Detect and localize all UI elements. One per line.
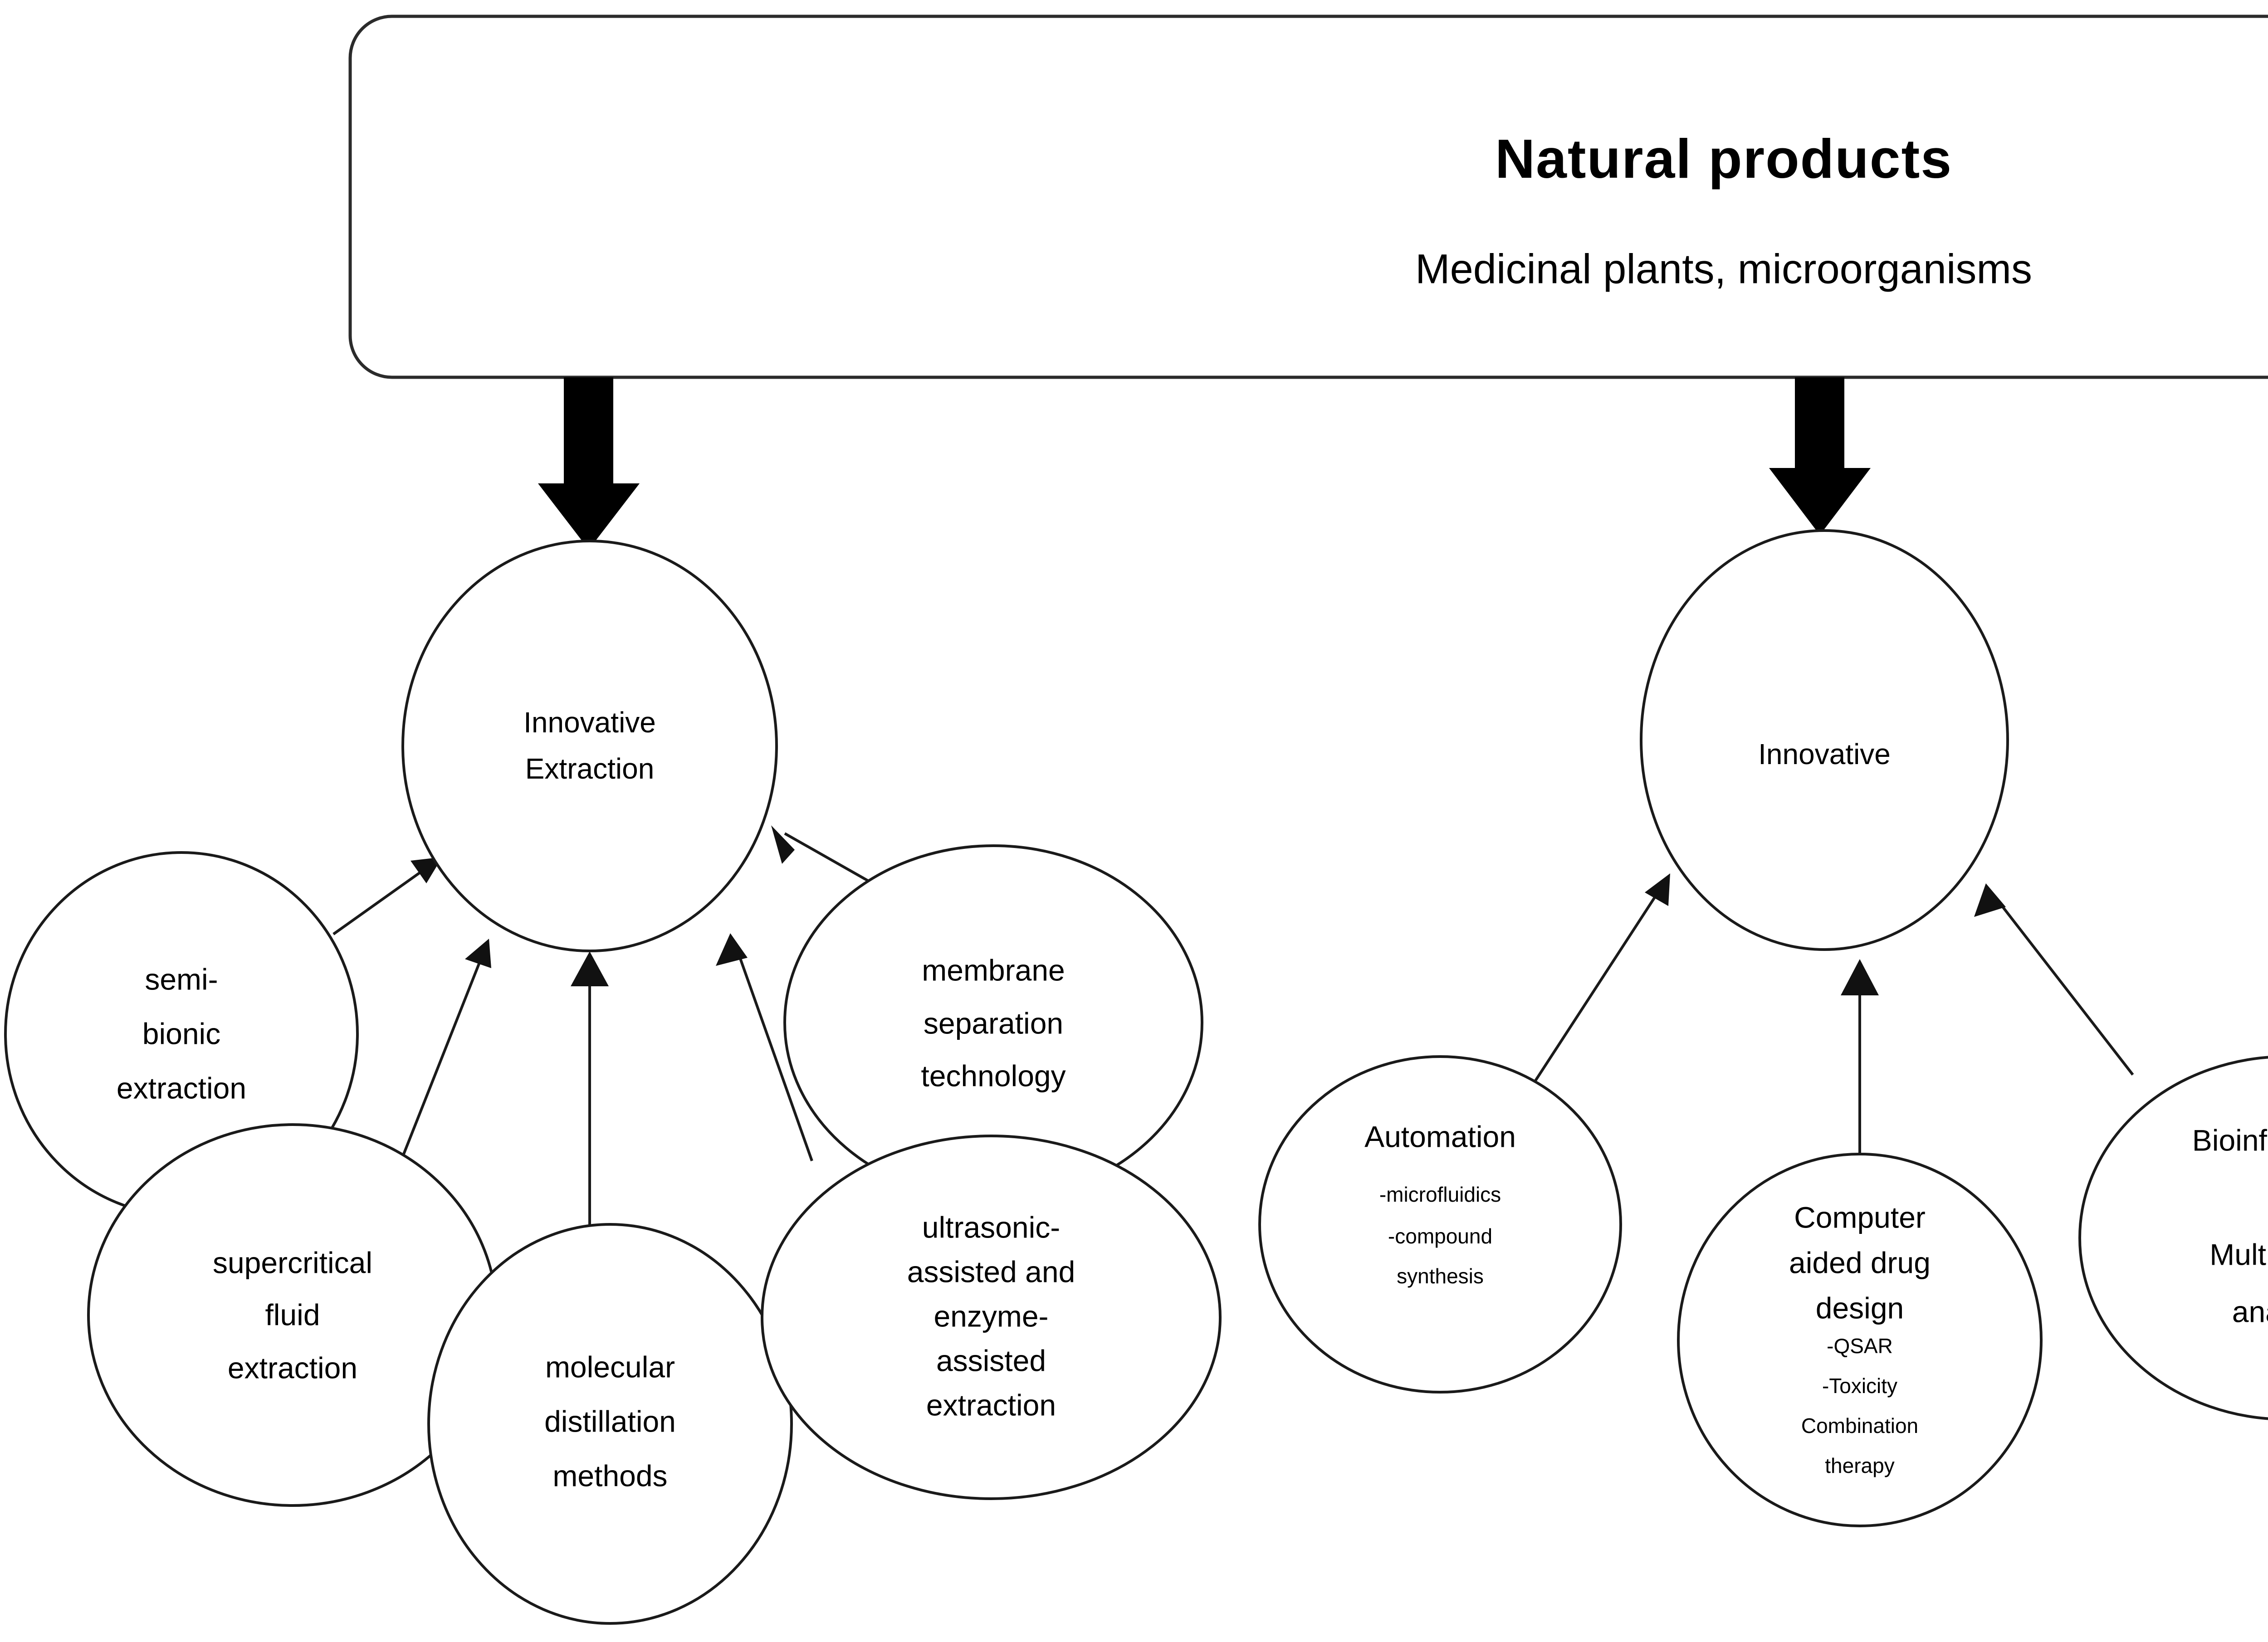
node-label-sub2: -compound (1388, 1224, 1492, 1248)
node-innovative[interactable]: Innovative (1641, 531, 2008, 950)
node-label-line1: molecular (545, 1350, 675, 1384)
node-label-line1: membrane (922, 953, 1065, 987)
node-label-line2: separation (924, 1006, 1063, 1040)
link-membrane-to-extraction (771, 825, 882, 889)
node-label-line1: Computer (1794, 1200, 1926, 1234)
node-label-line2: Extraction (525, 752, 655, 785)
page-subtitle: Medicinal plants, microorganisms (1415, 246, 2032, 292)
node-label-line3: Multivariate (2209, 1238, 2268, 1271)
node-label-sub1: -microfluidics (1379, 1183, 1501, 1206)
node-label-line1: Bioinformatics (2192, 1123, 2268, 1157)
node-label-line2: assisted and (907, 1255, 1075, 1288)
link-automation-to-innovative (1519, 873, 1670, 1106)
node-label-line2: distillation (544, 1404, 676, 1438)
node-label-line1: Innovative (1758, 738, 1891, 770)
node-label-sub4: therapy (1825, 1454, 1894, 1477)
diagram-canvas: Natural products Medicinal plants, micro… (0, 0, 2268, 1642)
page-title: Natural products (1495, 128, 1952, 190)
node-label-sub1: -QSAR (1827, 1334, 1893, 1358)
link-semi-bionic-to-extraction (333, 857, 442, 934)
node-innovative-extraction[interactable]: Innovative Extraction (403, 541, 777, 951)
node-molecular-distillation-methods[interactable]: molecular distillation methods (429, 1224, 792, 1623)
node-bioinformatics-multivariate-analysis[interactable]: Bioinformatics / Multivariate analysis (2080, 1057, 2268, 1419)
node-label-line4: assisted (936, 1344, 1046, 1377)
thick-arrow-center (1769, 377, 1871, 535)
header-box (350, 16, 2268, 377)
down-arrow-icon (1769, 377, 1871, 535)
node-label-line3: extraction (117, 1071, 246, 1105)
node-ellipse[interactable] (403, 541, 777, 951)
node-label-line3: enzyme- (934, 1299, 1048, 1333)
node-label-line1: ultrasonic- (922, 1210, 1060, 1244)
node-label-line2: bionic (142, 1017, 220, 1050)
node-label-line2: fluid (265, 1298, 320, 1331)
down-arrow-icon (538, 377, 640, 550)
link-supercritical-to-extraction (404, 939, 491, 1154)
node-label-sub3: synthesis (1397, 1264, 1484, 1288)
node-label-line4: analysis (2232, 1295, 2268, 1328)
node-label-line3: extraction (228, 1351, 357, 1384)
thick-arrow-left (538, 377, 640, 550)
node-label-head: Automation (1364, 1120, 1516, 1153)
link-cadd-to-innovative (1841, 959, 1879, 1161)
node-label-line3: methods (552, 1459, 667, 1492)
node-label-line1: semi- (145, 962, 218, 996)
node-label-line3: design (1816, 1291, 1904, 1325)
flowchart-svg: Natural products Medicinal plants, micro… (0, 0, 2268, 1642)
node-automation[interactable]: Automation -microfluidics -compound synt… (1260, 1057, 1621, 1392)
node-label-line1: supercritical (213, 1246, 372, 1279)
node-label-line1: Innovative (523, 706, 656, 739)
node-label-sub2: -Toxicity (1822, 1374, 1897, 1398)
header-box-group: Natural products Medicinal plants, micro… (350, 16, 2268, 377)
node-computer-aided-drug-design[interactable]: Computer aided drug design -QSAR -Toxici… (1678, 1154, 2041, 1526)
node-label-sub3: Combination (1801, 1414, 1918, 1437)
link-bioinformatics-to-innovative (1974, 883, 2133, 1075)
node-label-line2: aided drug (1789, 1246, 1931, 1279)
node-ultrasonic-enzyme-assisted-extraction[interactable]: ultrasonic- assisted and enzyme- assiste… (762, 1136, 1220, 1499)
node-label-line5: extraction (926, 1388, 1056, 1422)
node-label-line3: technology (921, 1059, 1066, 1092)
